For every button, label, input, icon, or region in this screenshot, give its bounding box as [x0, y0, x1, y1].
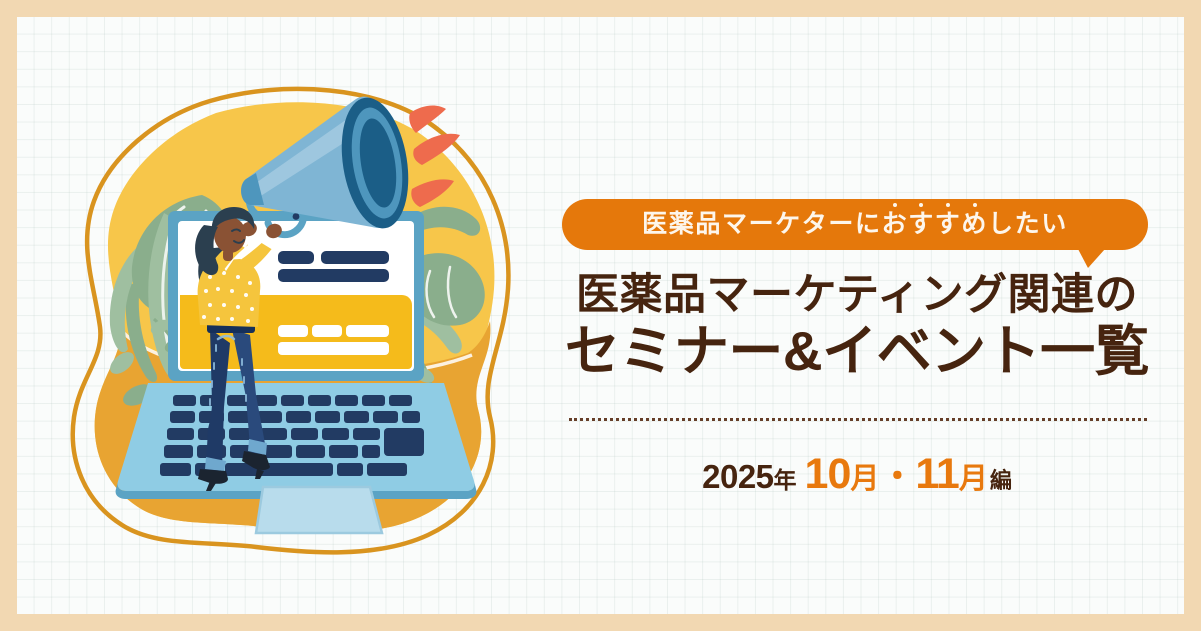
seminar-event-banner: 医薬品マーケターにおすすめしたい 医薬品マーケティング関連の セミナー&イベント…: [0, 0, 1201, 631]
edition-separator: ・: [880, 458, 914, 496]
webcam-dot: [293, 213, 300, 220]
key-row-5: [160, 463, 407, 476]
tagline-badge-tail: [1078, 249, 1105, 268]
screen-bar: [312, 325, 342, 337]
edition-date: 2025年10月・11月編: [537, 453, 1177, 496]
tagline-badge-text: 医薬品マーケターにおすすめしたい: [642, 212, 1068, 237]
edition-year: 2025: [702, 458, 773, 495]
title-line-1: 医薬品マーケティング関連の: [537, 273, 1177, 319]
edition-month-1-unit: 月: [850, 463, 879, 495]
tagline-emphasized: おすすめ: [882, 212, 988, 237]
key-row-2: [170, 411, 420, 423]
screen-bar: [278, 251, 314, 264]
dotted-divider: [569, 418, 1147, 421]
screen-bar: [346, 325, 389, 337]
hero-illustration: [60, 77, 530, 577]
text-content: 医薬品マーケターにおすすめしたい 医薬品マーケティング関連の セミナー&イベント…: [537, 17, 1177, 614]
screen-bar: [278, 325, 308, 337]
edition-month-1: 10: [805, 450, 851, 498]
screen-bar: [278, 342, 389, 355]
laptop-trackpad: [256, 487, 382, 533]
key-row-1: [173, 395, 412, 406]
edition-month-2-unit: 月: [959, 463, 988, 495]
tagline-badge-body: 医薬品マーケターにおすすめしたい: [562, 199, 1148, 250]
illustration-svg: [60, 77, 530, 577]
grid-paper-panel: 医薬品マーケターにおすすめしたい 医薬品マーケティング関連の セミナー&イベント…: [17, 17, 1184, 614]
screen-bar: [278, 269, 389, 282]
edition-month-2: 11: [915, 450, 958, 498]
tagline-badge: 医薬品マーケターにおすすめしたい: [562, 199, 1148, 267]
screen-bar: [321, 251, 389, 264]
edition-suffix: 編: [990, 468, 1012, 493]
title-line-2: セミナー&イベント一覧: [537, 321, 1177, 383]
tagline-plain-after: したい: [988, 212, 1068, 237]
tagline-plain-before: 医薬品マーケターに: [642, 212, 881, 237]
page-title: 医薬品マーケティング関連の セミナー&イベント一覧: [537, 273, 1177, 382]
edition-year-suffix: 年: [774, 467, 797, 493]
